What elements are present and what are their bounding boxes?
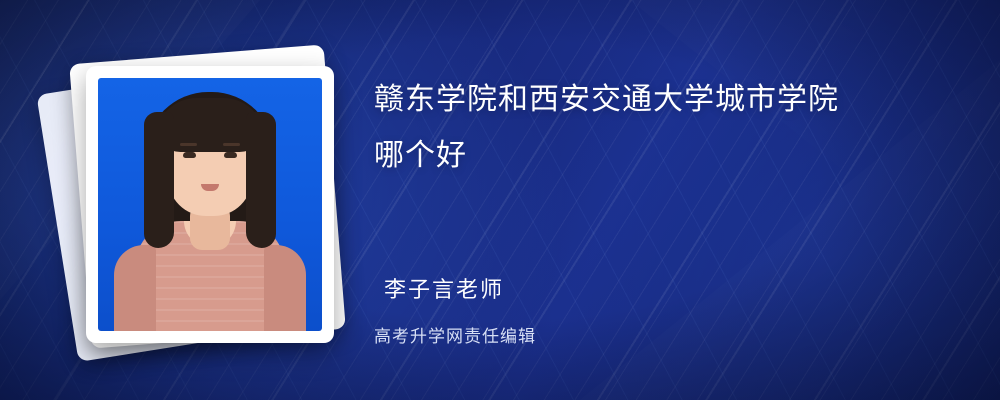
- photo-card-stack: [48, 34, 358, 364]
- author-portrait-photo: [98, 78, 322, 331]
- portrait-eye-right: [224, 152, 237, 158]
- portrait-hair-right: [246, 112, 276, 248]
- portrait-eyebrow-left: [180, 143, 197, 146]
- portrait-shoulder-right: [264, 245, 306, 331]
- portrait-eye-left: [183, 152, 196, 158]
- author-role: 高考升学网责任编辑: [374, 322, 960, 347]
- author-name: 李子言老师: [374, 272, 960, 304]
- headline-line-2: 哪个好: [374, 128, 960, 184]
- author-photo-card: [86, 66, 334, 343]
- promo-banner: 赣东学院和西安交通大学城市学院 哪个好 李子言老师 高考升学网责任编辑: [0, 0, 1000, 400]
- portrait-shoulder-left: [114, 245, 156, 331]
- portrait-eyebrow-right: [223, 143, 240, 146]
- headline-line-1: 赣东学院和西安交通大学城市学院: [374, 72, 960, 128]
- portrait-hair-left: [144, 112, 174, 248]
- banner-text-block: 赣东学院和西安交通大学城市学院 哪个好 李子言老师 高考升学网责任编辑: [374, 72, 960, 347]
